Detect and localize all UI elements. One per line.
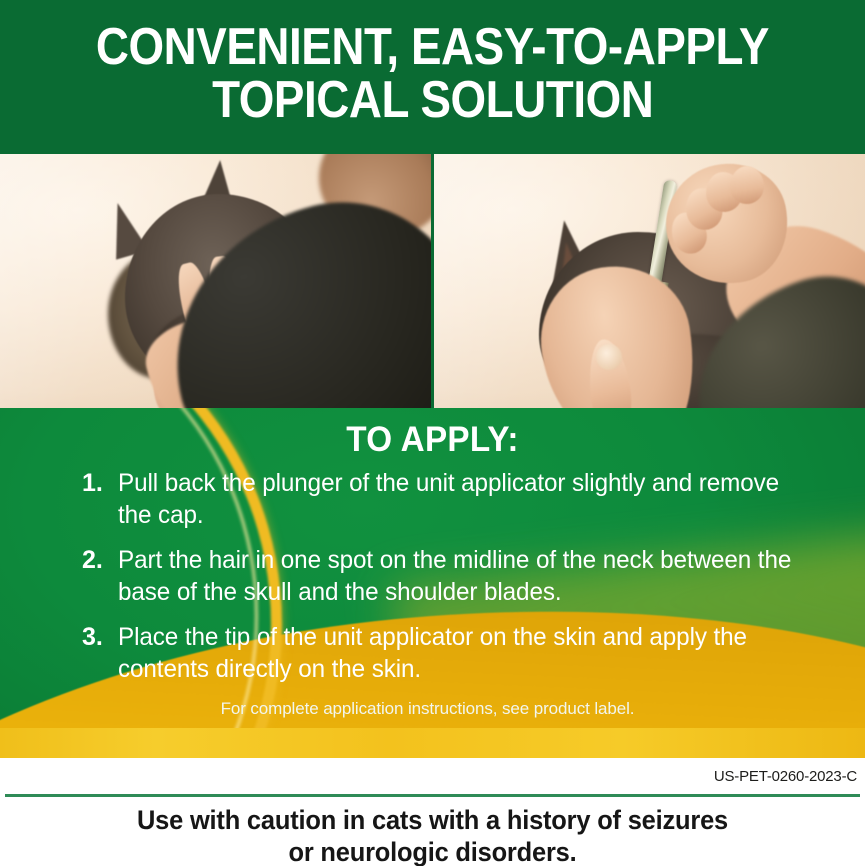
step-number: 3. [82,622,118,654]
step-text: Part the hair in one spot on the midline… [118,545,804,608]
to-apply-heading: TO APPLY: [22,420,844,460]
footer-divider [5,794,860,797]
step-number: 1. [82,468,118,500]
step-item: 2. Part the hair in one spot on the midl… [0,545,865,608]
steps-list: 1. Pull back the plunger of the unit app… [0,468,865,685]
caution-statement: Use with caution in cats with a history … [17,804,847,866]
instructions-footnote: For complete application instructions, s… [0,699,865,719]
caution-line-2: or neurologic disorders. [17,836,847,866]
header-title-line-2: TOPICAL SOLUTION [212,74,653,127]
photo-strip [0,150,865,408]
caution-line-1: Use with caution in cats with a history … [17,804,847,836]
photo-cat-restrained [0,154,431,408]
document-code: US-PET-0260-2023-C [714,768,857,785]
footer: US-PET-0260-2023-C Use with caution in c… [0,758,865,866]
instructions-panel: TO APPLY: 1. Pull back the plunger of th… [0,408,865,758]
step-text: Pull back the plunger of the unit applic… [118,468,804,531]
promotional-poster: CONVENIENT, EASY-TO-APPLY TOPICAL SOLUTI… [0,0,865,866]
yellow-footer-band [0,728,865,758]
step-item: 1. Pull back the plunger of the unit app… [0,468,865,531]
step-text: Place the tip of the unit applicator on … [118,622,804,685]
instructions-content: TO APPLY: 1. Pull back the plunger of th… [0,408,865,719]
header-banner: CONVENIENT, EASY-TO-APPLY TOPICAL SOLUTI… [0,0,865,150]
step-item: 3. Place the tip of the unit applicator … [0,622,865,685]
photo-applicator-on-neck [434,154,865,408]
header-title-line-1: CONVENIENT, EASY-TO-APPLY [96,21,769,74]
step-number: 2. [82,545,118,577]
thumbnail [596,344,622,370]
